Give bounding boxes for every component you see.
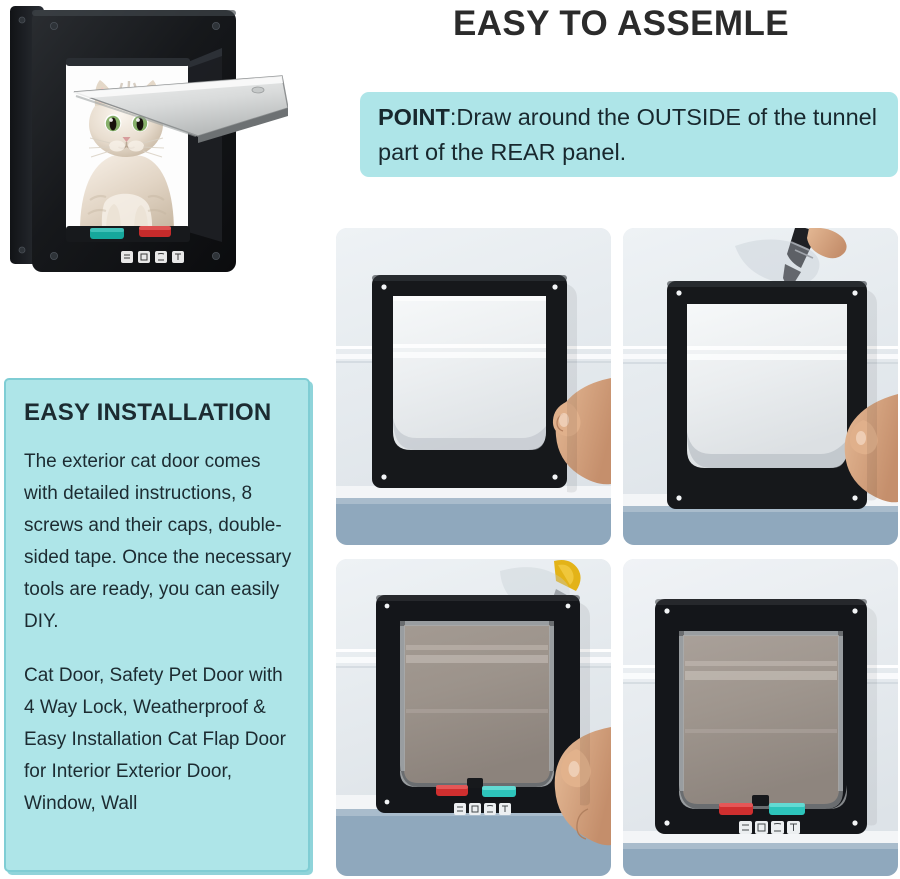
point-callout-lead: POINT (378, 104, 450, 130)
step-1-illustration (336, 228, 611, 545)
info-panel-title: EASY INSTALLATION (24, 398, 292, 428)
photo-step-1 (336, 228, 611, 545)
info-panel-paragraph-1: The exterior cat door comes with detaile… (24, 446, 292, 638)
lock-slider-bar (66, 226, 190, 242)
step-3-illustration (336, 559, 611, 876)
photo-step-4 (623, 559, 898, 876)
photo-step-2 (623, 228, 898, 545)
photo-step-3 (336, 559, 611, 876)
step-4-illustration (623, 559, 898, 876)
cat-door-illustration (6, 4, 288, 286)
step-2-illustration (623, 228, 898, 545)
point-callout-box: POINT:Draw around the OUTSIDE of the tun… (360, 92, 898, 177)
page-title: EASY TO ASSEMLE (345, 2, 897, 46)
easy-installation-panel: EASY INSTALLATION The exterior cat door … (4, 378, 310, 872)
instruction-photo-grid (336, 228, 898, 876)
info-panel-paragraph-2: Cat Door, Safety Pet Door with 4 Way Loc… (24, 660, 292, 820)
hero-product-image (6, 4, 288, 286)
point-callout-body: :Draw around the OUTSIDE of the tunnel p… (378, 104, 877, 165)
